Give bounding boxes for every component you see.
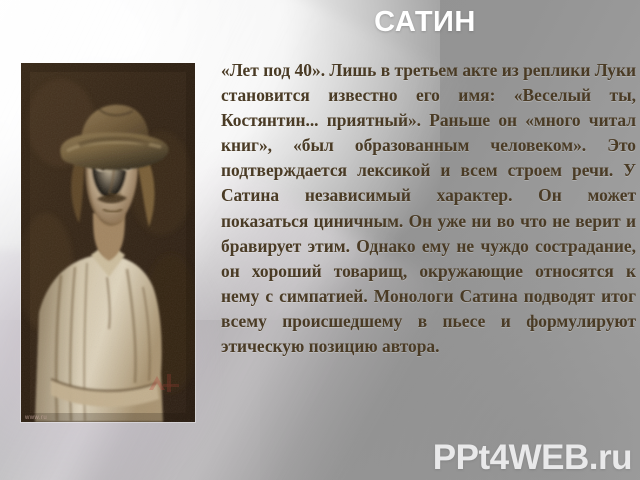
- page-title: САТИН: [215, 4, 635, 40]
- body-paragraph: «Лет под 40». Лишь в третьем акте из реп…: [221, 58, 636, 359]
- slide: www.ru САТИН «Лет под 40». Лишь в третье…: [0, 0, 640, 480]
- photo-watermark-text: www.ru: [25, 415, 47, 421]
- body-text: «Лет под 40». Лишь в третьем акте из реп…: [221, 58, 636, 359]
- portrait-photo: www.ru: [21, 63, 195, 422]
- portrait-photo-image: [21, 63, 195, 422]
